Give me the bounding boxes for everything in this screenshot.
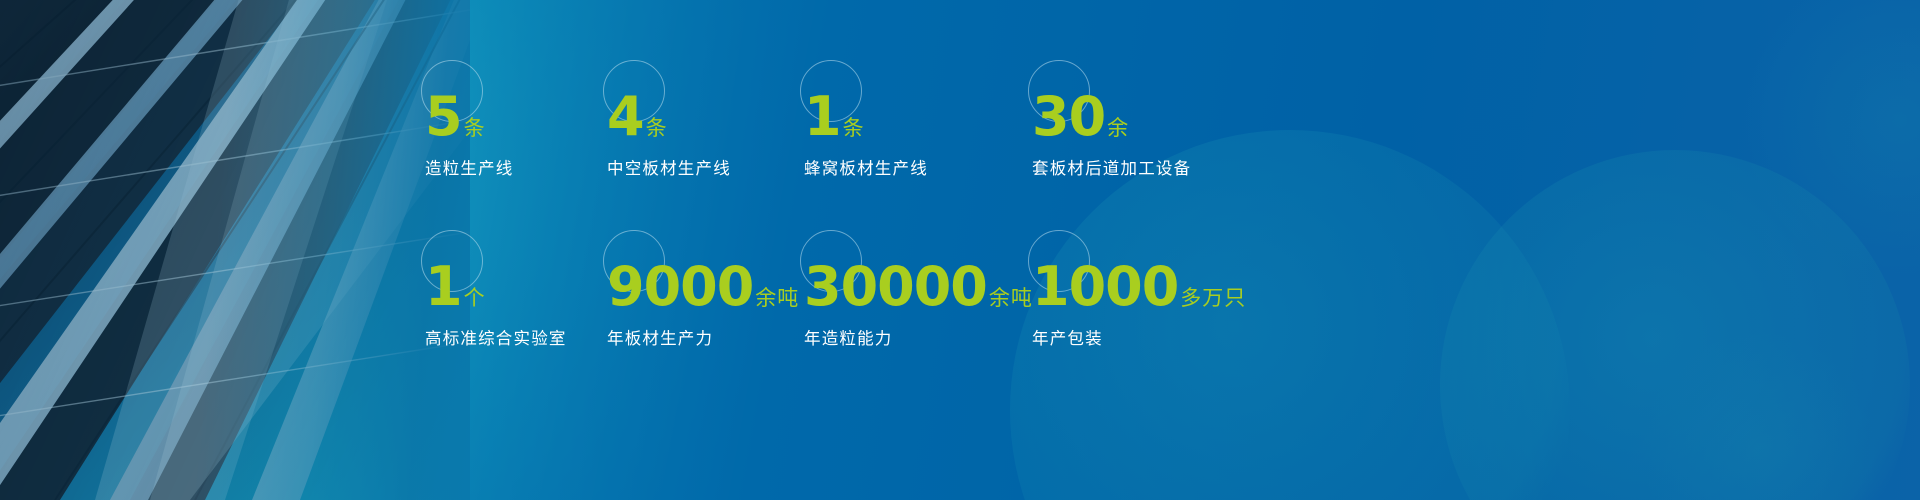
- stat-number-line: 30余: [1032, 62, 1265, 144]
- stat-annual-packaging-output: 1000多万只 年产包装: [1032, 232, 1265, 349]
- stat-label: 年产包装: [1032, 325, 1265, 349]
- stats-banner: 5条 造粒生产线 4条 中空板材生产线 1条 蜂窝板材生产线: [0, 0, 1920, 500]
- stat-number: 30000: [804, 255, 987, 318]
- stat-unit: 条: [646, 116, 668, 140]
- stat-number-line: 1000多万只: [1032, 232, 1265, 314]
- stat-number: 1: [804, 85, 841, 148]
- stat-annual-sheet-capacity: 9000余吨 年板材生产力: [607, 232, 804, 349]
- stat-number: 30: [1032, 85, 1105, 148]
- stat-number: 9000: [607, 255, 753, 318]
- stat-number: 4: [607, 85, 644, 148]
- stat-number-line: 1个: [425, 232, 607, 314]
- stat-granulation-lines: 5条 造粒生产线: [425, 62, 607, 179]
- stat-number: 5: [425, 85, 462, 148]
- stat-number-line: 4条: [607, 62, 804, 144]
- stat-label: 套板材后道加工设备: [1032, 155, 1265, 179]
- stat-hollow-sheet-lines: 4条 中空板材生产线: [607, 62, 804, 179]
- stat-annual-granulation-capacity: 30000余吨 年造粒能力: [804, 232, 1032, 349]
- stat-number: 1000: [1032, 255, 1178, 318]
- stat-label: 造粒生产线: [425, 155, 607, 179]
- stat-label: 年造粒能力: [804, 325, 1032, 349]
- stat-unit: 多万只: [1180, 286, 1246, 310]
- stat-post-processing-equipment: 30余 套板材后道加工设备: [1032, 62, 1265, 179]
- stat-number-line: 30000余吨: [804, 232, 1032, 314]
- stat-unit: 余吨: [989, 286, 1033, 310]
- stat-unit: 条: [843, 116, 865, 140]
- stat-label: 年板材生产力: [607, 325, 804, 349]
- stat-unit: 个: [464, 286, 486, 310]
- stat-number-line: 1条: [804, 62, 1032, 144]
- stat-unit: 条: [464, 116, 486, 140]
- building-facade-photo: [0, 0, 470, 500]
- stats-row-2: 1个 高标准综合实验室 9000余吨 年板材生产力 30000余吨 年造粒能力: [425, 232, 1265, 349]
- stats-row-1: 5条 造粒生产线 4条 中空板材生产线 1条 蜂窝板材生产线: [425, 62, 1265, 179]
- stat-label: 蜂窝板材生产线: [804, 155, 1032, 179]
- photo-edge-fade: [0, 0, 470, 500]
- stat-unit: 余吨: [755, 286, 799, 310]
- stat-honeycomb-sheet-lines: 1条 蜂窝板材生产线: [804, 62, 1032, 179]
- stat-number-line: 5条: [425, 62, 607, 144]
- stat-label: 高标准综合实验室: [425, 325, 607, 349]
- stat-number: 1: [425, 255, 462, 318]
- stat-label: 中空板材生产线: [607, 155, 804, 179]
- stat-laboratory: 1个 高标准综合实验室: [425, 232, 607, 349]
- stat-number-line: 9000余吨: [607, 232, 804, 314]
- stat-unit: 余: [1107, 116, 1129, 140]
- stats-grid: 5条 造粒生产线 4条 中空板材生产线 1条 蜂窝板材生产线: [425, 62, 1265, 382]
